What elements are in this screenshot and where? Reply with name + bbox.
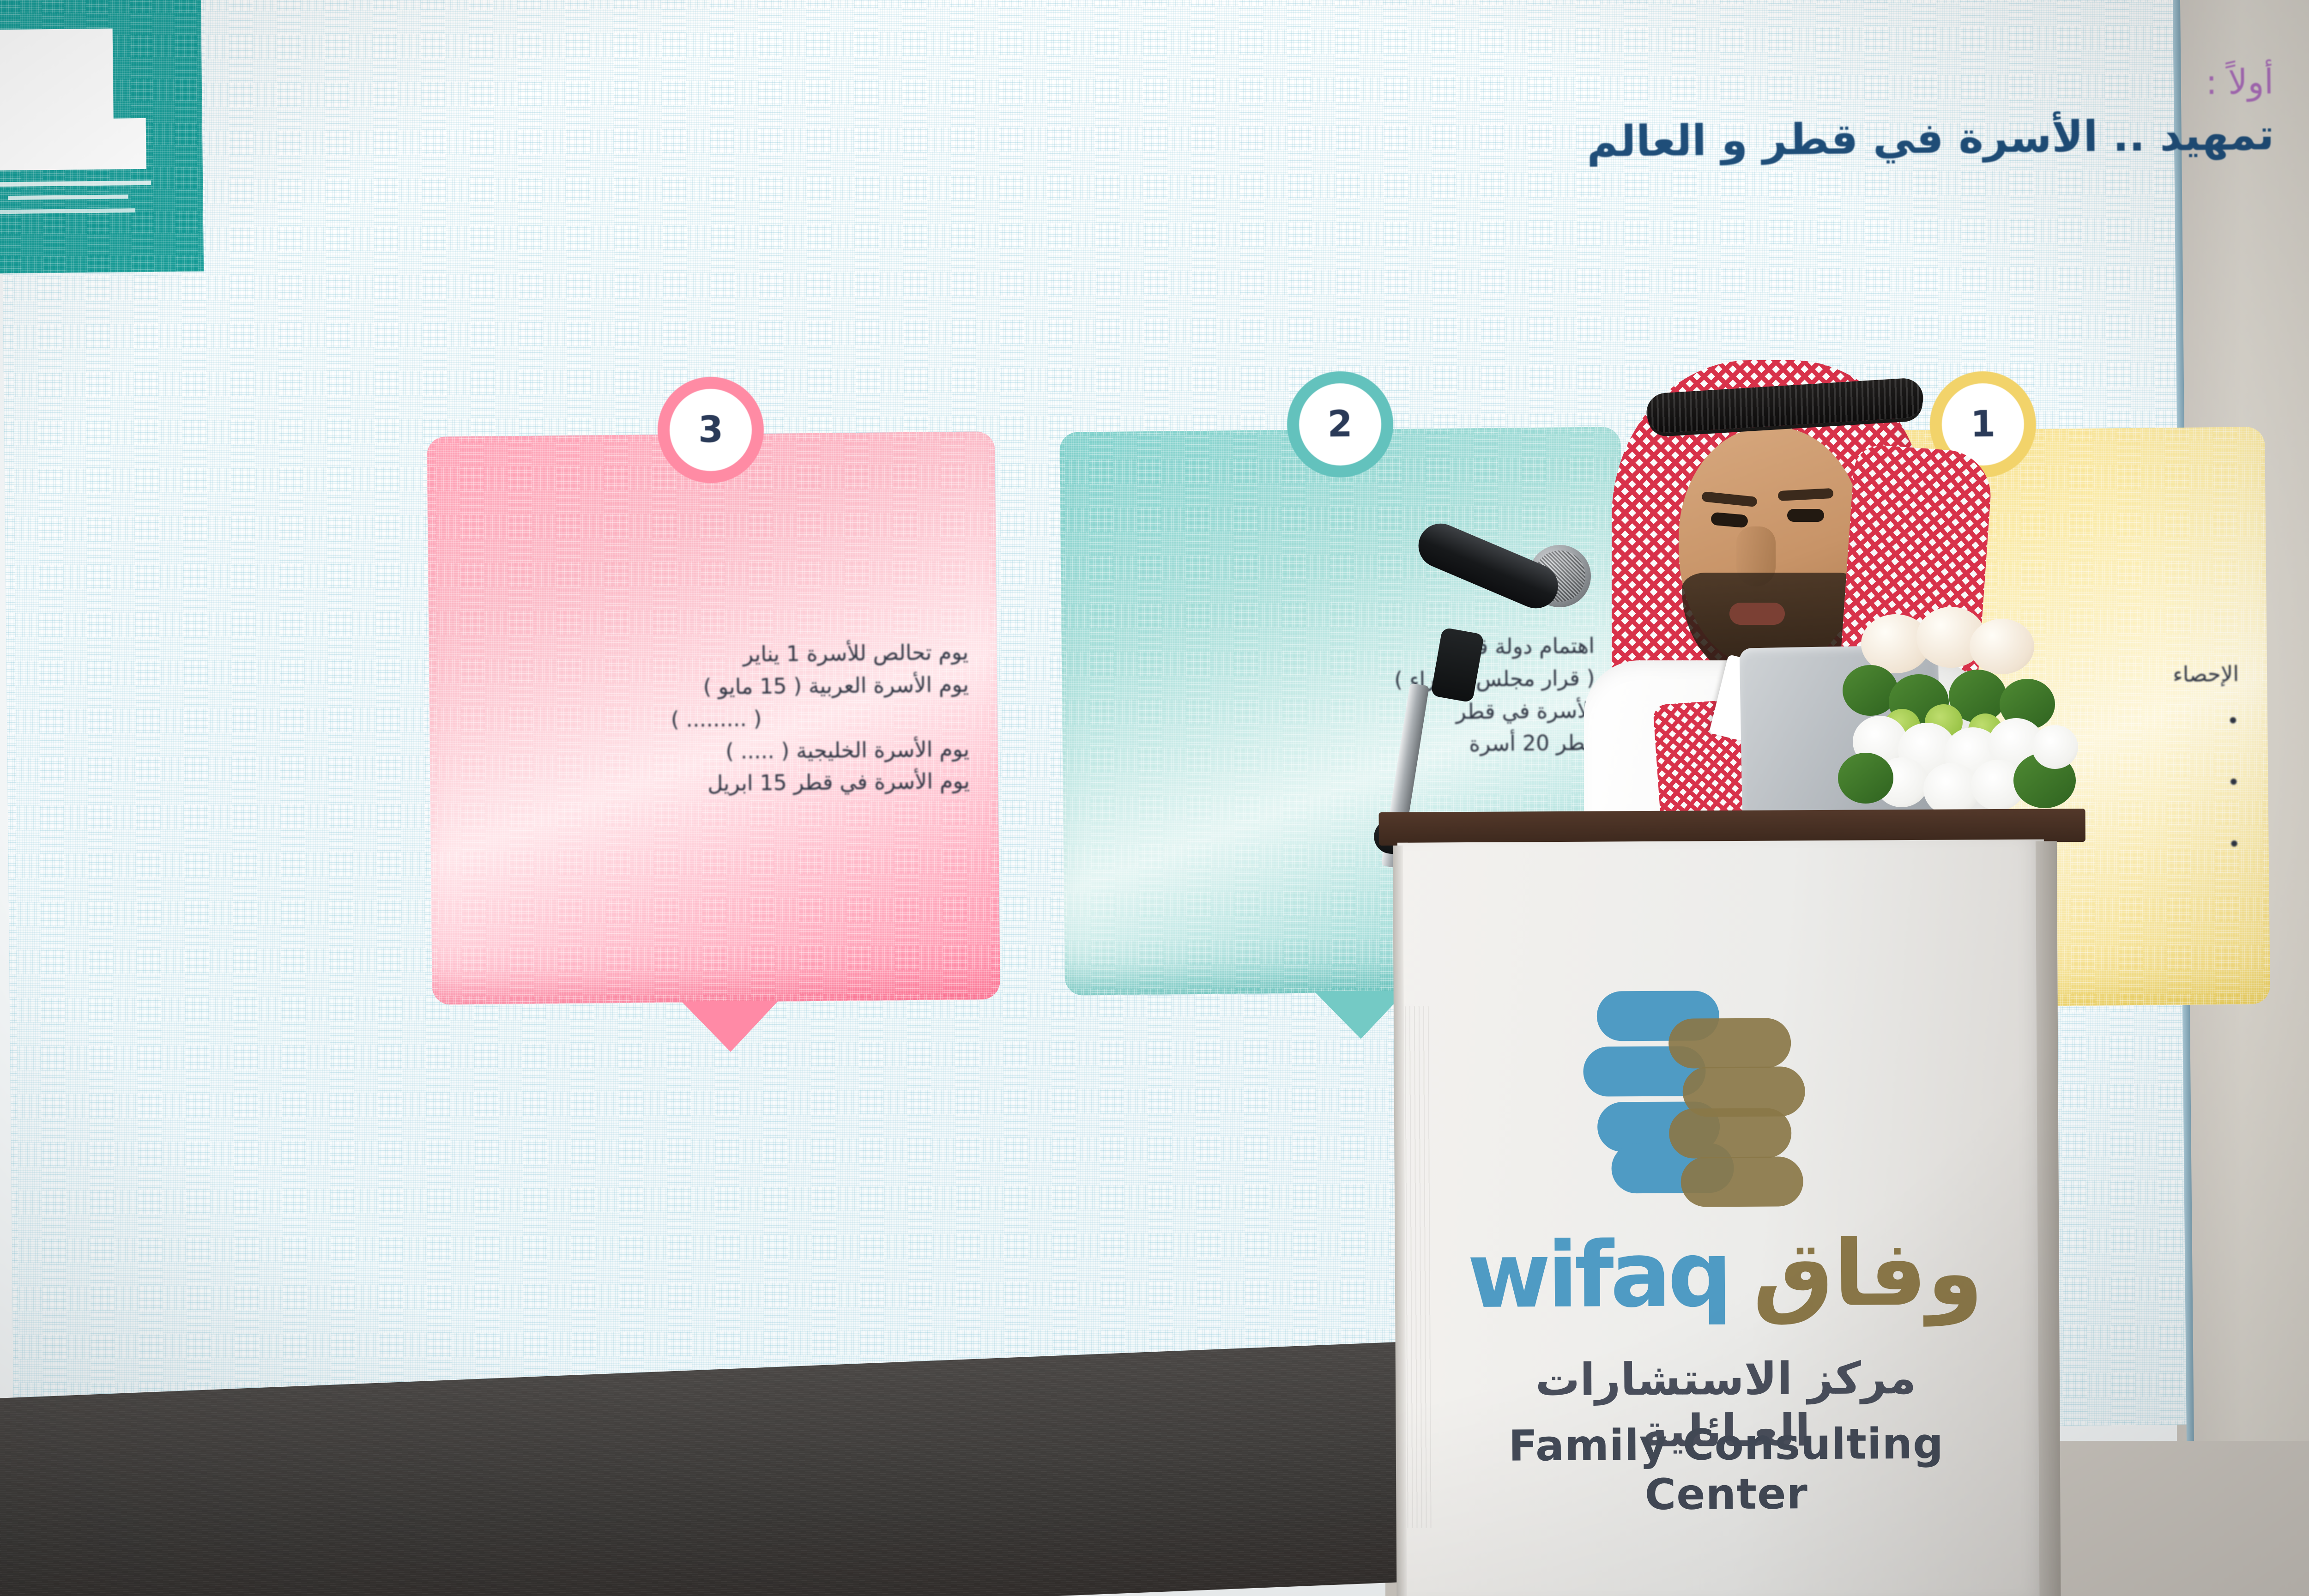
slide-card-3: 3 يوم تحالص للأسرة 1 يناير يوم الأسرة ال… xyxy=(427,431,1000,1005)
list-item: يوم الأسرة الخليجية ( ..... ) xyxy=(464,733,969,770)
eye-right xyxy=(1787,509,1824,522)
mic-clip xyxy=(1431,627,1485,703)
page-title: تمهيد .. الأسرة في قطر و العالم xyxy=(1304,110,2274,169)
list-item: ( ......... ) xyxy=(464,701,969,738)
slide-title-group: أولاً : تمهيد .. الأسرة في قطر و العالم xyxy=(1304,62,2274,169)
wifaq-arabic-name: وفاق xyxy=(1753,1233,1983,1315)
list-item: يوم الأسرة في قطر 15 ابريل xyxy=(464,765,970,802)
card-3-number-badge: 3 xyxy=(669,388,752,472)
mouth xyxy=(1729,603,1785,625)
podium-ribbing xyxy=(1405,1006,1432,1528)
wifaq-logo-icon xyxy=(1592,985,1861,1204)
card-2-number-badge: 2 xyxy=(1299,383,1382,466)
card-3-bullets: يوم تحالص للأسرة 1 يناير يوم الأسرة العر… xyxy=(463,636,970,802)
card-3-tail xyxy=(682,1001,779,1052)
list-item: يوم الأسرة العربية ( 15 مايو ) xyxy=(463,668,969,705)
podium-subtitle-english: Family Consulting Center xyxy=(1446,1419,2006,1520)
podium: wifaq وفاق مركز الاستشارات العـائلية Fam… xyxy=(1393,809,2076,1596)
flower-arrangement xyxy=(1847,600,2097,831)
photograph-canvas: أولاً : تمهيد .. الأسرة في قطر و العالم … xyxy=(0,0,2309,1596)
list-item: يوم تحالص للأسرة 1 يناير xyxy=(463,636,968,673)
wifaq-latin-name: wifaq xyxy=(1467,1239,1729,1312)
venue-logo xyxy=(0,0,204,273)
wifaq-wordmark: wifaq وفاق xyxy=(1441,1220,2009,1329)
podium-side-edge xyxy=(2036,841,2061,1596)
